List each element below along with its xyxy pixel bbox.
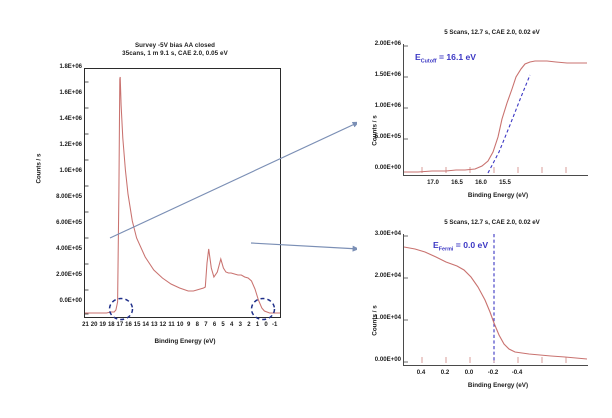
inset-bottom-y-tick: 1.00E+04 — [375, 314, 401, 321]
inset-bottom-annotation: EFermi = 0.0 eV — [433, 240, 488, 253]
figure-root: Survey -5V bias AA closed 35cans, 1 m 9.… — [0, 0, 612, 418]
inset-bottom-y-tick-labels: 3.00E+042.00E+041.00E+040.00E+00 — [357, 230, 401, 380]
inset-top-y-tick: 1.00E+06 — [375, 102, 401, 109]
arrow-to-cutoff-inset — [110, 122, 359, 238]
main-y-tick: 1.2E+06 — [59, 142, 82, 148]
inset-top-data-curve — [404, 61, 587, 172]
inset-top-x-axis-label: Binding Energy (eV) — [423, 192, 573, 199]
inset-bottom-svg — [404, 234, 587, 364]
inset-top-y-tick: 5.00E+05 — [375, 133, 401, 140]
inset-bottom-x-tick: -0.4 — [512, 369, 523, 376]
inset-top-x-tick: 15.5 — [499, 179, 511, 186]
inset-bottom-x-tick-labels: 0.40.20.0-0.2-0.4 — [403, 369, 588, 381]
inset-bottom-annotation-value: = 0.0 eV — [453, 240, 488, 250]
inset-bottom-x-tick: 0.0 — [465, 369, 473, 376]
inset-bottom-y-tick: 2.00E+04 — [375, 272, 401, 279]
inset-cutoff-panel: 5 Scans, 12.7 s, CAE 2.0, 0.02 eV Counts… — [357, 22, 612, 208]
inset-top-y-tick: 0.00E+00 — [375, 164, 401, 171]
inset-top-y-tick-labels: 2.00E+061.50E+061.00E+065.00E+050.00E+00 — [357, 40, 401, 190]
inset-connector-arrows — [96, 96, 386, 326]
inset-top-x-tick: 17.0 — [427, 179, 439, 186]
inset-bottom-y-ticks — [404, 236, 408, 362]
inset-top-y-tick: 1.50E+06 — [375, 71, 401, 78]
inset-top-annotation-subscript: Cutoff — [421, 59, 437, 65]
inset-bottom-x-tick: -0.2 — [488, 369, 499, 376]
inset-bottom-x-axis-label: Binding Energy (eV) — [423, 382, 573, 389]
main-y-tick: 8.00E+05 — [56, 194, 82, 200]
main-x-tick: 21 — [82, 322, 89, 328]
inset-bottom-title: 5 Scans, 12.7 s, CAE 2.0, 0.02 eV — [387, 219, 597, 226]
inset-bottom-data-curve — [404, 247, 587, 359]
inset-top-x-tick-labels: 17.016.516.015.5 — [403, 179, 588, 191]
main-y-tick: 2.00E+05 — [56, 272, 82, 278]
inset-top-fit-line — [488, 75, 530, 173]
main-chart-title: Survey -5V bias AA closed 35cans, 1 m 9.… — [75, 42, 275, 58]
inset-top-x-ticks — [422, 167, 566, 173]
inset-bottom-x-tick: 0.2 — [441, 369, 449, 376]
main-x-axis-label: Binding Energy (eV) — [100, 338, 270, 345]
main-y-tick: 6.00E+05 — [56, 220, 82, 226]
inset-bottom-annotation-subscript: Fermi — [439, 247, 454, 253]
inset-fermi-panel: 5 Scans, 12.7 s, CAE 2.0, 0.02 eV Counts… — [357, 212, 612, 398]
main-title-line-1: Survey -5V bias AA closed — [75, 42, 275, 50]
inset-top-y-tick: 2.00E+06 — [375, 40, 401, 47]
main-y-axis-label-wrap: Counts / s — [34, 175, 44, 185]
main-y-tick: 1.4E+06 — [59, 116, 82, 122]
inset-top-x-tick: 16.0 — [475, 179, 487, 186]
inset-bottom-y-tick: 3.00E+04 — [375, 230, 401, 237]
main-y-tick-labels: 1.8E+061.6E+061.4E+061.2E+061.0E+068.00E… — [44, 60, 82, 326]
inset-bottom-x-tick: 0.4 — [417, 369, 425, 376]
main-y-tick: 4.00E+05 — [56, 246, 82, 252]
main-y-tick: 1.0E+06 — [59, 168, 82, 174]
main-y-tick: 1.6E+06 — [59, 90, 82, 96]
main-y-tick: 1.8E+06 — [59, 64, 82, 70]
main-y-tick: 0.0E+00 — [59, 298, 82, 304]
main-axis-ticks — [85, 82, 89, 314]
inset-bottom-y-tick: 0.00E+00 — [375, 356, 401, 363]
inset-bottom-plot-area — [403, 234, 588, 366]
inset-top-x-tick: 16.5 — [451, 179, 463, 186]
inset-top-y-ticks — [404, 46, 408, 172]
main-y-axis-label: Counts / s — [36, 174, 43, 184]
inset-top-annotation: ECutoff = 16.1 eV — [415, 52, 476, 65]
inset-top-annotation-value: = 16.1 eV — [437, 52, 476, 62]
arrow-to-fermi-inset — [251, 243, 359, 249]
inset-top-title: 5 Scans, 12.7 s, CAE 2.0, 0.02 eV — [387, 29, 597, 36]
main-title-line-2: 35cans, 1 m 9.1 s, CAE 2.0, 0.05 eV — [75, 50, 275, 58]
